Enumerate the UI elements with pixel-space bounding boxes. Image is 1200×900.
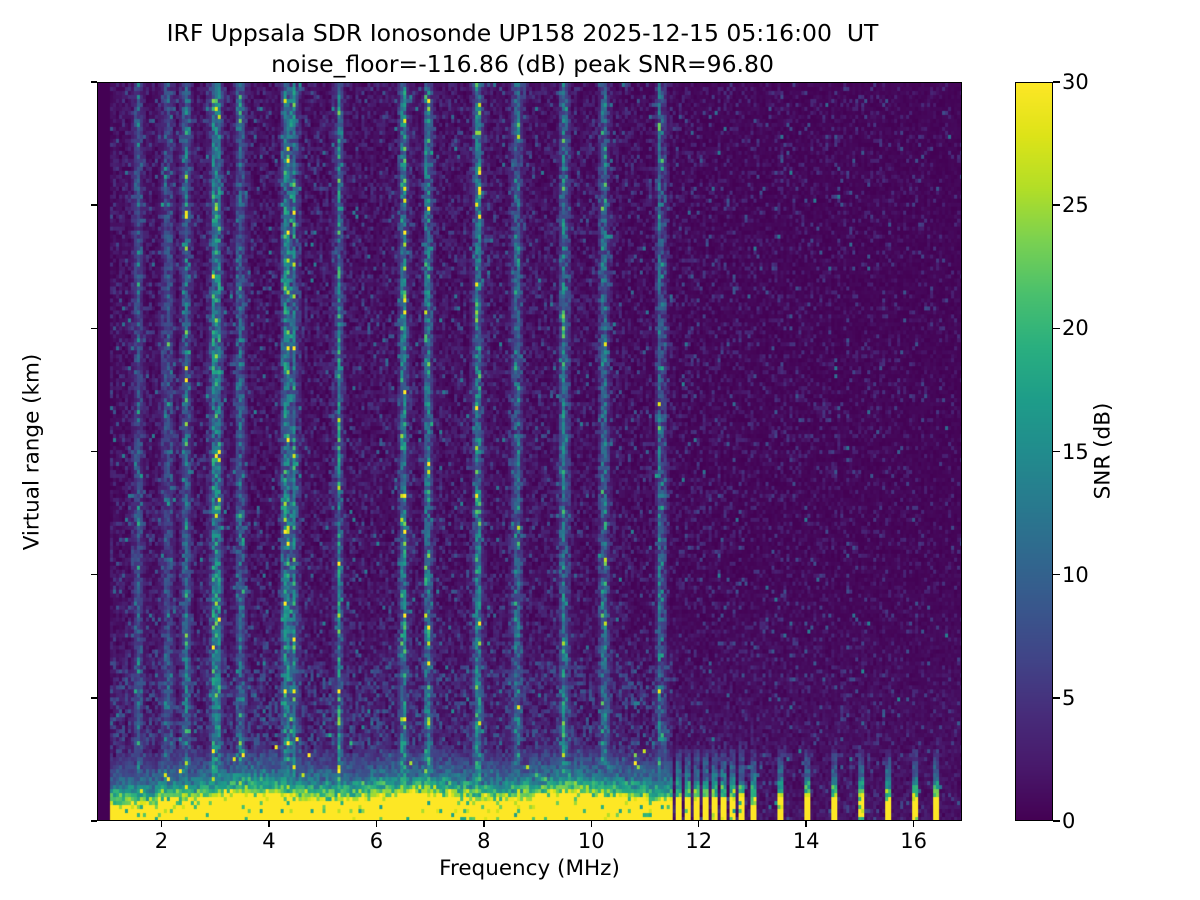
y-axis-tick-mark bbox=[91, 81, 97, 82]
x-axis-tick-mark bbox=[805, 821, 806, 827]
colorbar-gradient bbox=[1016, 83, 1052, 820]
x-axis-tick-mark bbox=[376, 821, 377, 827]
x-axis-tick-label: 16 bbox=[900, 829, 927, 853]
title-line-1: IRF Uppsala SDR Ionosonde UP158 2025-12-… bbox=[0, 18, 1045, 49]
colorbar-tick-mark bbox=[1053, 697, 1060, 698]
y-axis-tick-mark bbox=[91, 697, 97, 698]
colorbar-tick-mark bbox=[1053, 328, 1060, 329]
x-axis-tick-mark bbox=[591, 821, 592, 827]
x-axis-tick-mark bbox=[483, 821, 484, 827]
x-axis-tick-mark bbox=[161, 821, 162, 827]
x-axis-tick-mark bbox=[913, 821, 914, 827]
y-axis-tick-mark bbox=[91, 451, 97, 452]
colorbar-tick-label: 5 bbox=[1062, 686, 1075, 710]
y-axis-tick-mark bbox=[91, 574, 97, 575]
colorbar-tick-label: 20 bbox=[1062, 316, 1089, 340]
x-axis-tick-label: 6 bbox=[370, 829, 383, 853]
colorbar-tick-mark bbox=[1053, 820, 1060, 821]
x-axis-tick-label: 14 bbox=[793, 829, 820, 853]
colorbar-tick-label: 10 bbox=[1062, 563, 1089, 587]
x-axis-tick-label: 10 bbox=[578, 829, 605, 853]
y-axis-tick-mark bbox=[91, 328, 97, 329]
ionogram-figure: IRF Uppsala SDR Ionosonde UP158 2025-12-… bbox=[0, 0, 1200, 900]
colorbar-tick-mark bbox=[1053, 204, 1060, 205]
colorbar-tick-label: 15 bbox=[1062, 440, 1089, 464]
colorbar-tick-label: 25 bbox=[1062, 193, 1089, 217]
colorbar-tick-mark bbox=[1053, 81, 1060, 82]
colorbar-tick-mark bbox=[1053, 574, 1060, 575]
x-axis-label: Frequency (MHz) bbox=[97, 856, 962, 881]
title-line-2: noise_floor=-116.86 (dB) peak SNR=96.80 bbox=[0, 49, 1045, 80]
x-axis-tick-label: 12 bbox=[685, 829, 712, 853]
colorbar bbox=[1015, 82, 1053, 821]
colorbar-label: SNR (dB) bbox=[1091, 403, 1116, 500]
x-axis-tick-label: 2 bbox=[155, 829, 168, 853]
x-axis-tick-label: 4 bbox=[262, 829, 275, 853]
x-axis-tick-label: 8 bbox=[477, 829, 490, 853]
y-axis-tick-mark bbox=[91, 820, 97, 821]
colorbar-tick-label: 30 bbox=[1062, 70, 1089, 94]
y-axis-label: Virtual range (km) bbox=[20, 353, 45, 550]
figure-title: IRF Uppsala SDR Ionosonde UP158 2025-12-… bbox=[0, 18, 1045, 79]
colorbar-tick-mark bbox=[1053, 451, 1060, 452]
x-axis-tick-mark bbox=[268, 821, 269, 827]
x-axis-tick-mark bbox=[698, 821, 699, 827]
ionogram-heatmap-canvas bbox=[98, 83, 961, 820]
colorbar-tick-label: 0 bbox=[1062, 809, 1075, 833]
y-axis-tick-mark bbox=[91, 204, 97, 205]
ionogram-plot-area bbox=[97, 82, 962, 821]
